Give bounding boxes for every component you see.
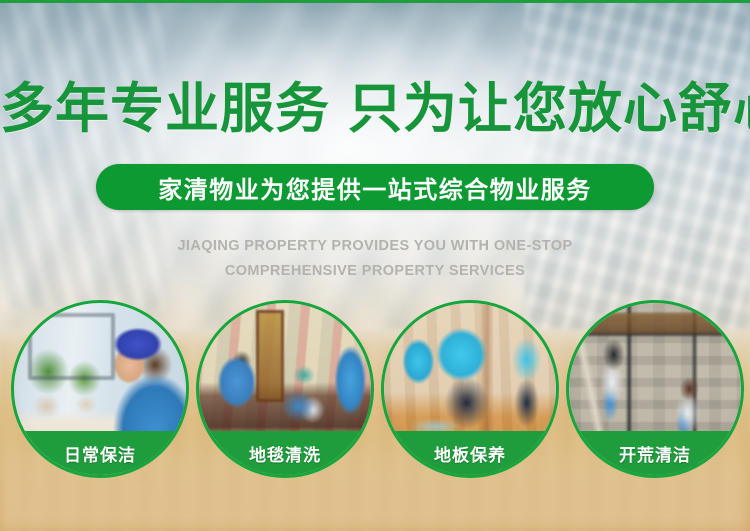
service-label-carpet-cleaning: 地毯清洗	[199, 431, 371, 475]
service-label-text: 地板保养	[434, 441, 506, 466]
promo-banner: 多年专业服务只为让您放心舒心 家清物业为您提供一站式综合物业服务 JIAQING…	[0, 0, 750, 531]
headline-part-2: 只为让您放心舒心	[348, 79, 750, 139]
subtitle-pill-text: 家清物业为您提供一站式综合物业服务	[158, 170, 592, 205]
tagline-line-1: JIAQING PROPERTY PROVIDES YOU WITH ONE-S…	[0, 234, 750, 259]
service-label-floor-maintenance: 地板保养	[384, 431, 556, 475]
service-circle-daily-cleaning[interactable]: 日常保洁	[11, 300, 189, 478]
service-label-text: 日常保洁	[64, 441, 136, 466]
english-tagline: JIAQING PROPERTY PROVIDES YOU WITH ONE-S…	[0, 234, 750, 284]
headline-part-1: 多年专业服务	[0, 79, 330, 139]
service-circle-carpet-cleaning[interactable]: 地毯清洗	[196, 300, 374, 478]
subtitle-pill: 家清物业为您提供一站式综合物业服务	[96, 164, 654, 210]
top-green-rule	[0, 0, 750, 3]
service-circle-row: 日常保洁 地毯清洗 地板保养 开荒清洁	[0, 300, 750, 480]
service-label-text: 地毯清洗	[249, 441, 321, 466]
tagline-line-2: COMPREHENSIVE PROPERTY SERVICES	[0, 259, 750, 284]
service-circle-floor-maintenance[interactable]: 地板保养	[381, 300, 559, 478]
page-title: 多年专业服务只为让您放心舒心	[0, 82, 750, 136]
service-circle-post-construction-cleaning[interactable]: 开荒清洁	[566, 300, 744, 478]
service-label-post-construction-cleaning: 开荒清洁	[569, 431, 741, 475]
service-label-daily-cleaning: 日常保洁	[14, 431, 186, 475]
service-label-text: 开荒清洁	[619, 441, 691, 466]
